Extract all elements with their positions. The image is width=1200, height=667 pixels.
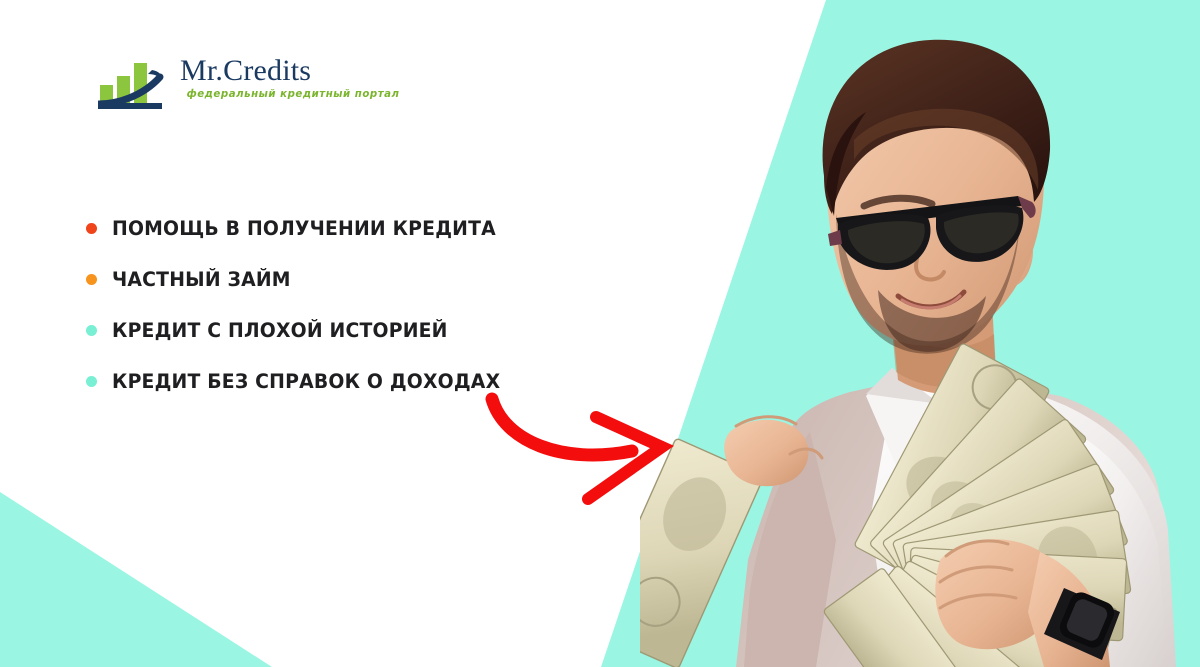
benefit-item-4: КРЕДИТ БЕЗ СПРАВОК О ДОХОДАХ xyxy=(86,356,556,407)
sunglasses-temple-left xyxy=(828,230,842,246)
bullet-dot-icon xyxy=(86,325,97,336)
benefit-label: КРЕДИТ БЕЗ СПРАВОК О ДОХОДАХ xyxy=(112,371,500,393)
bullet-dot-icon xyxy=(86,274,97,285)
benefit-label: ЧАСТНЫЙ ЗАЙМ xyxy=(112,269,291,291)
benefit-label: ПОМОЩЬ В ПОЛУЧЕНИИ КРЕДИТА xyxy=(112,218,496,240)
logo-wordmark: Mr.Credits xyxy=(180,56,400,86)
logo-baseline xyxy=(98,103,162,109)
hero-photo xyxy=(640,0,1200,667)
benefit-item-3: КРЕДИТ С ПЛОХОЙ ИСТОРИЕЙ xyxy=(86,305,556,356)
benefit-item-1: ПОМОЩЬ В ПОЛУЧЕНИИ КРЕДИТА xyxy=(86,203,556,254)
benefit-label: КРЕДИТ С ПЛОХОЙ ИСТОРИЕЙ xyxy=(112,320,448,342)
site-logo[interactable]: Mr.Credits федеральный кредитный портал xyxy=(98,55,358,113)
logo-tagline: федеральный кредитный портал xyxy=(187,88,400,101)
promo-banner: Mr.Credits федеральный кредитный портал … xyxy=(0,0,1200,667)
bullet-dot-icon xyxy=(86,223,97,234)
businessman-holding-cash-photo xyxy=(640,0,1200,667)
logo-text-block: Mr.Credits федеральный кредитный портал xyxy=(180,55,400,101)
benefit-item-2: ЧАСТНЫЙ ЗАЙМ xyxy=(86,254,556,305)
benefits-list: ПОМОЩЬ В ПОЛУЧЕНИИ КРЕДИТА ЧАСТНЫЙ ЗАЙМ … xyxy=(86,203,556,407)
bar-chart-growth-icon xyxy=(98,57,174,109)
bullet-dot-icon xyxy=(86,376,97,387)
